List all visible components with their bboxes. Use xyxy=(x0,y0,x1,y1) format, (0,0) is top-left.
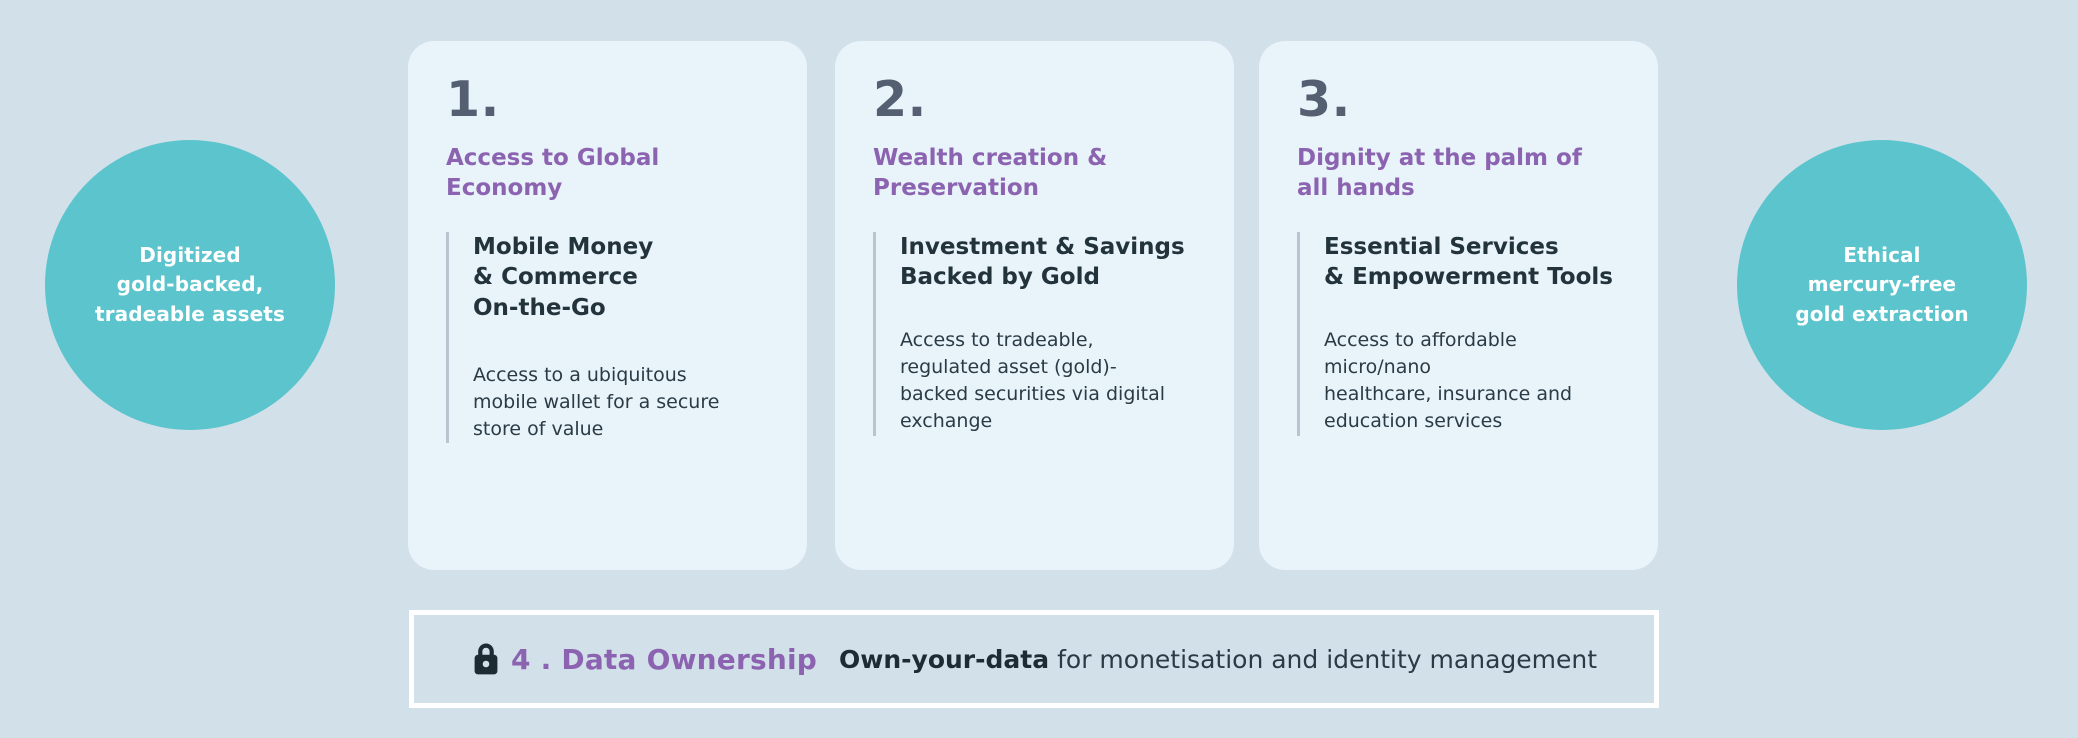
right-circle-badge: Ethical mercury-free gold extraction xyxy=(1737,140,2027,430)
card-1-number: 1. xyxy=(446,75,773,124)
card-1-description: Access to a ubiquitous mobile wallet for… xyxy=(473,362,773,443)
card-1-heading: Access to Global Economy xyxy=(446,144,773,204)
left-circle-badge: Digitized gold-backed, tradeable assets xyxy=(45,140,335,430)
banner-title: 4 . Data Ownership xyxy=(511,643,817,676)
card-1-body: Mobile Money & Commerce On-the-Go Access… xyxy=(446,232,773,443)
pillar-card-2[interactable]: 2. Wealth creation & Preservation Invest… xyxy=(835,41,1234,570)
card-3-body: Essential Services & Empowerment Tools A… xyxy=(1297,232,1624,436)
card-2-heading: Wealth creation & Preservation xyxy=(873,144,1200,204)
pillar-card-1[interactable]: 1. Access to Global Economy Mobile Money… xyxy=(408,41,807,570)
left-circle-label: Digitized gold-backed, tradeable assets xyxy=(95,241,285,330)
infographic-canvas: Digitized gold-backed, tradeable assets … xyxy=(0,0,2078,738)
pillar-card-3[interactable]: 3. Dignity at the palm of all hands Esse… xyxy=(1259,41,1658,570)
lock-icon xyxy=(471,642,501,676)
banner-strong-text: Own-your-data xyxy=(839,645,1049,674)
right-circle-label: Ethical mercury-free gold extraction xyxy=(1795,241,1968,330)
banner-rest-text: for monetisation and identity management xyxy=(1057,645,1597,674)
card-2-description: Access to tradeable, regulated asset (go… xyxy=(900,327,1200,436)
card-3-heading: Dignity at the palm of all hands xyxy=(1297,144,1624,204)
card-3-number: 3. xyxy=(1297,75,1624,124)
card-3-subtitle: Essential Services & Empowerment Tools xyxy=(1324,232,1624,293)
card-1-subtitle: Mobile Money & Commerce On-the-Go xyxy=(473,232,773,324)
card-2-number: 2. xyxy=(873,75,1200,124)
card-2-body: Investment & Savings Backed by Gold Acce… xyxy=(873,232,1200,436)
card-3-description: Access to affordable micro/nano healthca… xyxy=(1324,327,1624,436)
data-ownership-banner[interactable]: 4 . Data Ownership Own-your-data for mon… xyxy=(409,610,1659,708)
card-2-subtitle: Investment & Savings Backed by Gold xyxy=(900,232,1200,293)
